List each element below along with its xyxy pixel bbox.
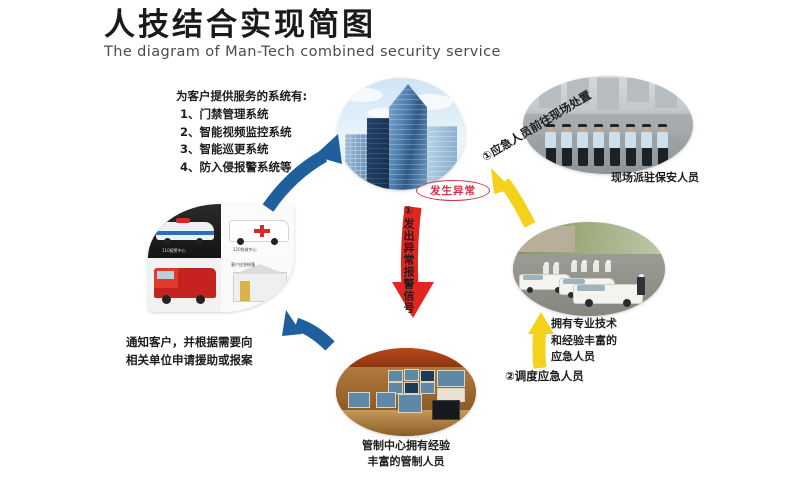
step2-dispatch-label: ②调度应急人员 bbox=[505, 368, 584, 386]
caption-control-center-line-1: 管制中心拥有经验 bbox=[330, 438, 482, 454]
shelter-minilabel: 客户应急帐篷 bbox=[231, 262, 255, 268]
service-list-item-3: 3、智能巡更系统 bbox=[176, 141, 307, 159]
arrow-to-scene-yellow bbox=[491, 168, 530, 225]
caption-emergency-team-line-1: 拥有专业技术 bbox=[551, 316, 661, 333]
emergency-services-collage-photo: 110报警中心 120急救中心 客户应急帐篷 bbox=[148, 204, 294, 312]
page-title: 人技结合实现简图 bbox=[104, 8, 376, 44]
service-list-item-4: 4、防入侵报警系统等 bbox=[176, 159, 307, 177]
caption-emergency-team-line-3: 应急人员 bbox=[551, 349, 661, 366]
caption-emergency-team-line-2: 和经验丰富的 bbox=[551, 333, 661, 350]
step1-alarm-signal-label: ①发出异常报警信号 bbox=[392, 204, 414, 314]
caption-emergency-team: 拥有专业技术 和经验丰富的 应急人员 bbox=[551, 316, 661, 366]
ambulance-quadrant: 120急救中心 bbox=[221, 204, 294, 258]
patrol-cars-photo bbox=[513, 222, 665, 316]
caption-control-center: 管制中心拥有经验 丰富的管制人员 bbox=[330, 438, 482, 470]
shelter-tent-quadrant: 客户应急帐篷 bbox=[221, 258, 294, 312]
monitoring-control-room-photo bbox=[336, 348, 476, 436]
service-list: 为客户提供服务的系统有: 1、门禁管理系统 2、智能视频监控系统 3、智能巡更系… bbox=[176, 88, 307, 177]
notify-client-text: 通知客户，并根据需要向 相关单位申请援助或报案 bbox=[126, 333, 253, 370]
abnormal-event-badge: 发生异常 bbox=[416, 180, 490, 201]
service-list-item-1: 1、门禁管理系统 bbox=[176, 106, 307, 124]
notify-client-line-2: 相关单位申请援助或报案 bbox=[126, 351, 253, 369]
caption-onsite-guards: 现场派驻保安人员 bbox=[595, 170, 715, 186]
police-minilabel: 110报警中心 bbox=[162, 248, 186, 254]
police-car-quadrant: 110报警中心 bbox=[148, 204, 221, 258]
page-subtitle: The diagram of Man-Tech combined securit… bbox=[104, 44, 501, 60]
notify-client-line-1: 通知客户，并根据需要向 bbox=[126, 333, 253, 351]
office-building-photo bbox=[337, 78, 465, 190]
service-list-heading: 为客户提供服务的系统有: bbox=[176, 88, 307, 106]
ambulance-minilabel: 120急救中心 bbox=[233, 247, 257, 253]
service-list-item-2: 2、智能视频监控系统 bbox=[176, 124, 307, 142]
fire-truck-quadrant bbox=[148, 258, 221, 312]
caption-control-center-line-2: 丰富的管制人员 bbox=[330, 454, 482, 470]
diagram-canvas: 人技结合实现简图 The diagram of Man-Tech combine… bbox=[0, 0, 802, 477]
arrow-notify-blue-bottom bbox=[282, 310, 330, 346]
